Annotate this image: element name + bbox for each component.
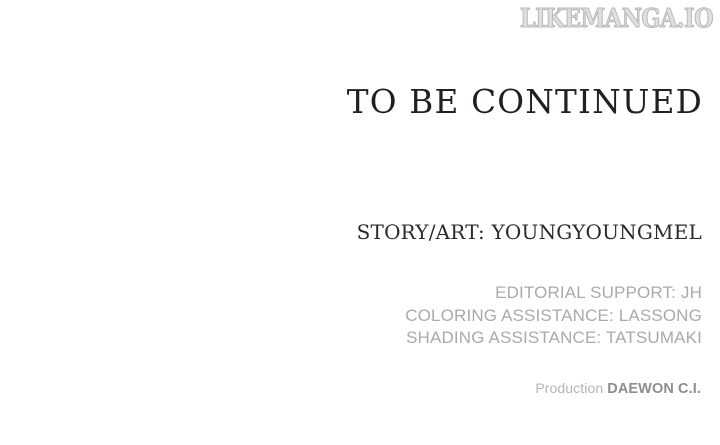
credit-coloring-assistance: COLORING ASSISTANCE: LASSONG (0, 305, 702, 328)
site-watermark: LIKEMANGA.IO (530, 2, 716, 34)
production-prefix-label: Production (535, 380, 603, 396)
manga-end-page: LIKEMANGA.IO TO BE CONTINUED STORY/ART: … (0, 0, 720, 445)
credit-story-art: STORY/ART: YOUNGYOUNGMEL (0, 220, 702, 244)
credit-shading-assistance: SHADING ASSISTANCE: TATSUMAKI (0, 327, 702, 350)
credit-production: Production DAEWON C.I. (0, 379, 701, 398)
page-title: TO BE CONTINUED (7, 83, 703, 121)
watermark-label: LIKEMANGA.IO (520, 5, 713, 31)
production-company-label: DAEWON C.I. (607, 381, 701, 397)
credit-editorial-support: EDITORIAL SUPPORT: JH (0, 282, 702, 305)
credit-support-block: EDITORIAL SUPPORT: JH COLORING ASSISTANC… (0, 282, 702, 350)
